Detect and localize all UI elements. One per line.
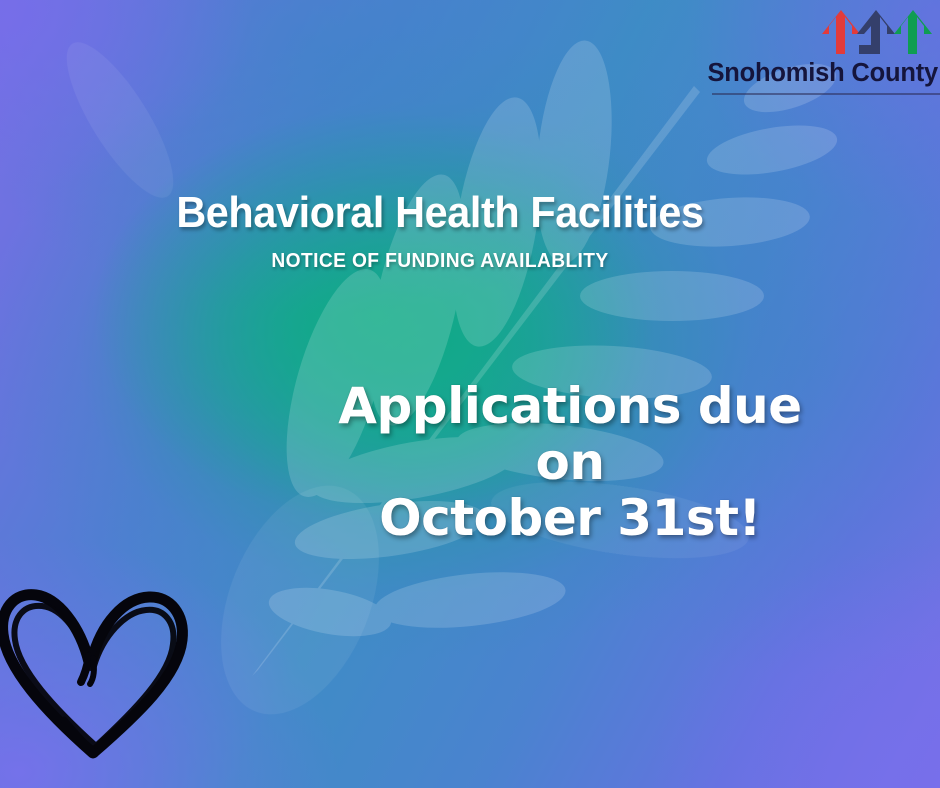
page-subtitle: NOTICE OF FUNDING AVAILABLITY [18,250,863,273]
logo-wordmark: Snohomish County [706,60,940,87]
poster-canvas: Snohomish County Behavioral Health Facil… [0,0,940,788]
deadline-message-block: Applications due on October 31st! [300,378,840,546]
deadline-line-1: Applications due on [300,378,840,490]
logo-house-arrow-marks [818,4,938,60]
house-arrow-green-icon [894,10,932,54]
page-title: Behavioral Health Facilities [26,190,853,236]
snohomish-county-logo: Snohomish County [706,4,940,95]
deadline-line-2: October 31st! [300,490,840,546]
headline-block: Behavioral Health Facilities NOTICE OF F… [0,190,880,273]
house-arrow-navy-icon [857,10,895,54]
logo-underline-rule [712,93,940,95]
house-arrow-red-icon [822,10,860,54]
